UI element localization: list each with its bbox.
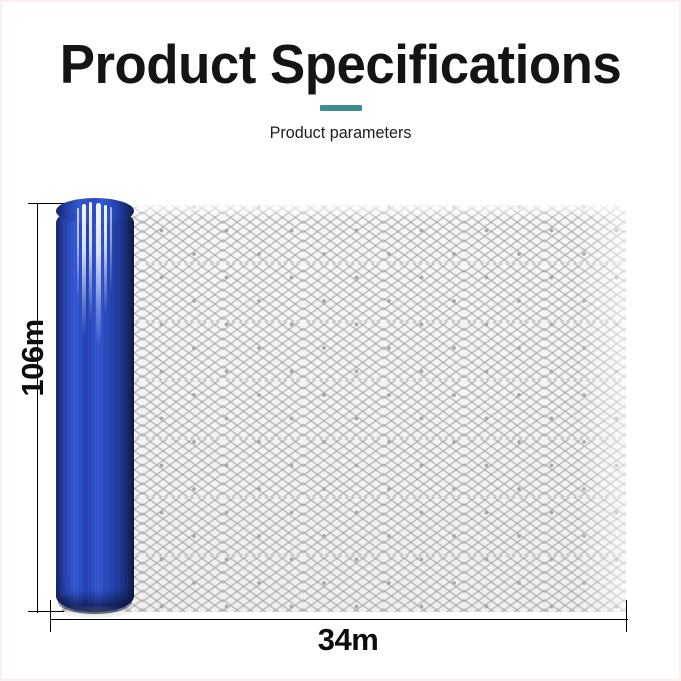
gloss-streak — [89, 202, 92, 320]
gloss-streak — [82, 204, 86, 336]
product-figure: 106m 34m — [0, 0, 681, 681]
width-dimension-label: 34m — [258, 622, 438, 658]
gloss-streak — [110, 207, 112, 293]
roll-drop-shadow — [60, 606, 132, 618]
gloss-streak — [104, 205, 107, 313]
height-dimension-label: 106m — [15, 298, 51, 418]
height-dimension-tick-top — [28, 203, 64, 204]
height-dimension-tick-bottom — [28, 611, 64, 612]
gloss-streak — [96, 203, 101, 345]
width-dimension-tick-left — [50, 600, 51, 632]
roll-gloss-highlights — [56, 202, 134, 352]
width-dimension-tick-right — [626, 600, 627, 632]
product-specifications-page: Product Specifications Product parameter… — [0, 0, 681, 681]
fabric-shading — [62, 205, 626, 612]
fabric-sheet — [62, 205, 626, 612]
gloss-streak — [77, 208, 79, 304]
width-dimension-line — [50, 619, 628, 620]
blue-material-roll — [56, 198, 134, 616]
